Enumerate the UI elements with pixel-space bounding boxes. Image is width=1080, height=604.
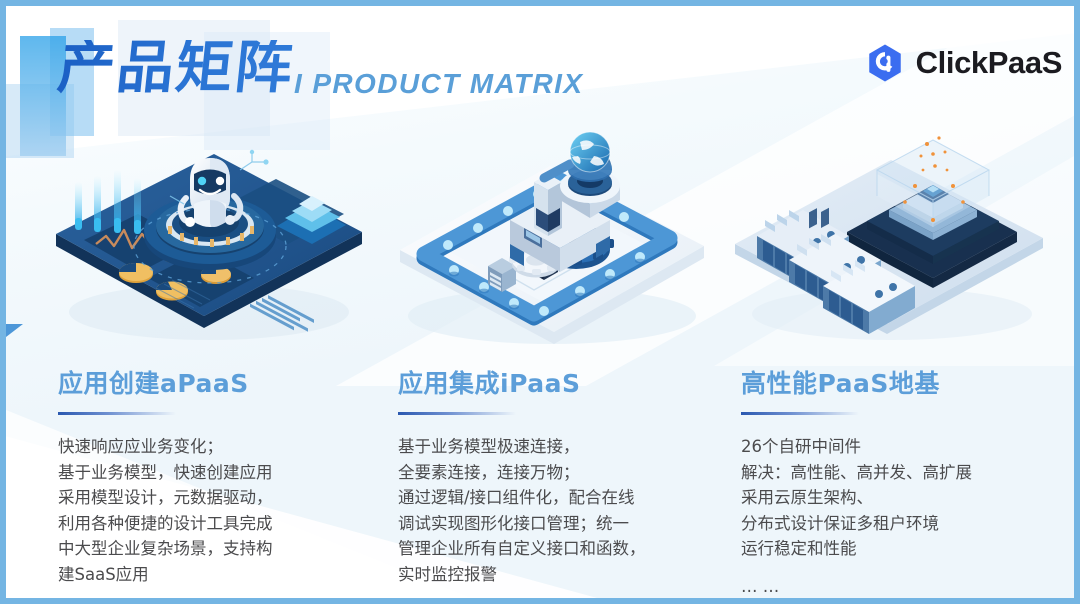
slide-header: 产品矩阵 I PRODUCT MATRIX ClickPaaS	[6, 6, 1080, 126]
column-title-paas-base: 高性能PaaS地基	[741, 364, 940, 400]
illustration-ipaas	[384, 126, 729, 351]
column-trailing-ellipsis: … …	[741, 574, 1071, 600]
page-title: 产品矩阵	[55, 40, 297, 97]
column-body-ipaas: 基于业务模型极速连接， 全要素连接，连接万物； 通过逻辑/接口组件化，配合在线 …	[398, 434, 728, 587]
isometric-server-racks-pyramid-infrastructure-icon	[727, 126, 1057, 351]
brand-logo: ClickPaaS	[864, 42, 1062, 84]
column-body-paas-base: 26个自研中间件 解决：高性能、高并发、高扩展 采用云原生架构、 分布式设计保证…	[741, 434, 1071, 562]
product-columns: 应用创建aPaaS 快速响应应业务变化； 基于业务模型，快速创建应用 采用模型设…	[6, 126, 1080, 604]
isometric-dashboard-robot-analytics-icon	[44, 126, 374, 351]
column-rule-apaas	[58, 412, 176, 415]
brand-name: ClickPaaS	[916, 45, 1062, 81]
slide-root: 产品矩阵 I PRODUCT MATRIX ClickPaaS	[0, 0, 1080, 604]
clickpaas-hexagon-logo-icon	[864, 42, 906, 84]
page-subtitle: I PRODUCT MATRIX	[294, 68, 583, 100]
column-rule-paas-base	[741, 412, 859, 415]
column-body-apaas: 快速响应应业务变化； 基于业务模型，快速创建应用 采用模型设计，元数据驱动， 利…	[58, 434, 388, 587]
column-title-ipaas: 应用集成iPaaS	[398, 364, 580, 400]
isometric-conveyor-gear-globe-integration-icon	[384, 126, 714, 351]
column-title-apaas: 应用创建aPaaS	[58, 364, 249, 400]
column-rule-ipaas	[398, 412, 516, 415]
illustration-paas-base	[727, 126, 1072, 351]
product-column-ipaas: 应用集成iPaaS 基于业务模型极速连接， 全要素连接，连接万物； 通过逻辑/接…	[384, 126, 729, 604]
illustration-apaas	[44, 126, 389, 351]
product-column-apaas: 应用创建aPaaS 快速响应应业务变化； 基于业务模型，快速创建应用 采用模型设…	[44, 126, 389, 604]
product-column-paas-base: 高性能PaaS地基 26个自研中间件 解决：高性能、高并发、高扩展 采用云原生架…	[727, 126, 1072, 604]
